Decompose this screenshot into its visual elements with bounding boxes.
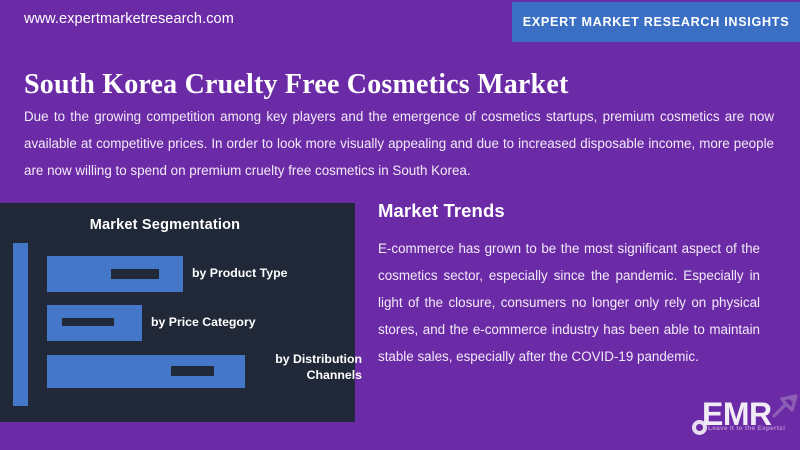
emr-tagline: Leave it to the Experts!	[708, 425, 785, 432]
market-trends-section: Market Trends E-commerce has grown to be…	[378, 200, 760, 384]
segmentation-bar	[47, 355, 245, 388]
site-url-text: www.expertmarketresearch.com	[24, 11, 234, 27]
segmentation-label-price-category: by Price Category	[151, 315, 256, 330]
header-bar: www.expertmarketresearch.com EXPERT MARK…	[0, 0, 800, 42]
emr-logo: EMR Leave it to the Experts!	[688, 392, 800, 446]
segmentation-label-product-type: by Product Type	[192, 266, 287, 281]
segmentation-label-distribution-channels: by Distribution Channels	[254, 351, 362, 383]
infographic-root: www.expertmarketresearch.com EXPERT MARK…	[0, 0, 800, 450]
segmentation-axis-bar	[13, 243, 28, 406]
page-title: South Korea Cruelty Free Cosmetics Marke…	[24, 69, 568, 101]
segmentation-bar-notch	[111, 269, 159, 279]
intro-paragraph: Due to the growing competition among key…	[24, 103, 774, 184]
market-trends-title: Market Trends	[378, 200, 760, 222]
insights-tab: EXPERT MARKET RESEARCH INSIGHTS	[512, 2, 800, 42]
segmentation-bar	[47, 256, 183, 292]
market-trends-paragraph: E-commerce has grown to be the most sign…	[378, 235, 760, 370]
segmentation-bar-notch	[62, 318, 114, 326]
insights-tab-label: EXPERT MARKET RESEARCH INSIGHTS	[523, 15, 790, 29]
segmentation-bar	[47, 305, 142, 341]
growth-arrow-icon	[772, 392, 798, 418]
market-segmentation-title: Market Segmentation	[0, 217, 330, 233]
segmentation-bar-notch	[171, 366, 214, 376]
